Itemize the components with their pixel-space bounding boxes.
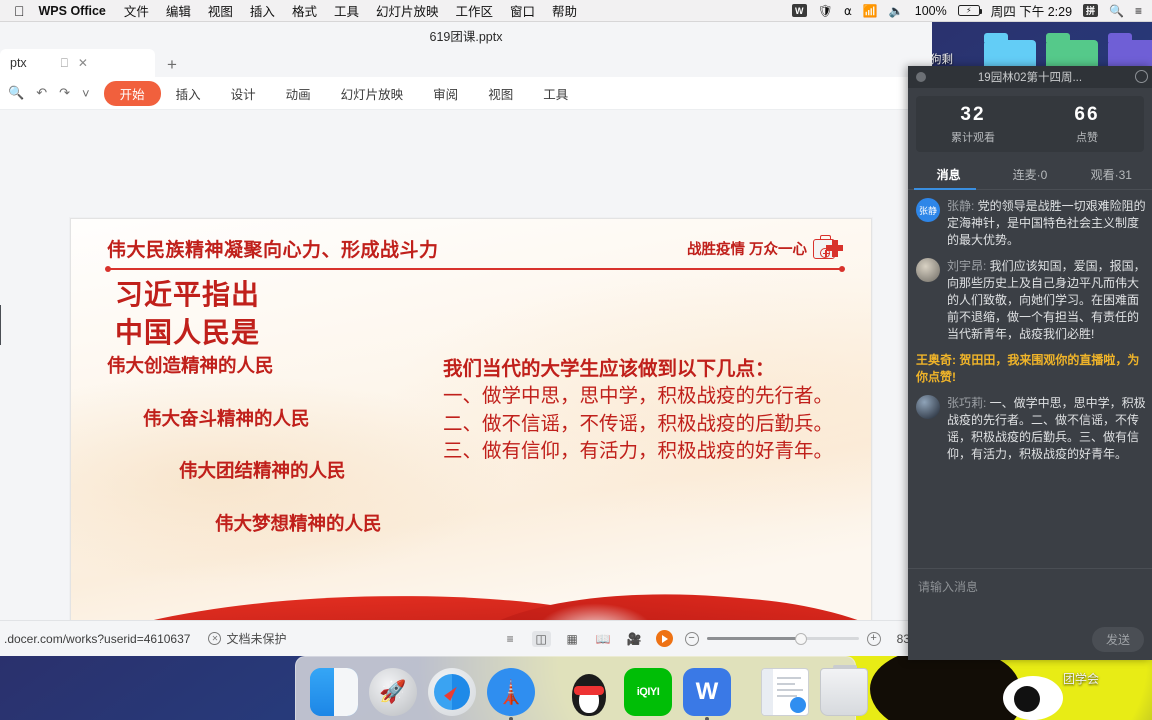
ribbon-tab-view[interactable]: 视图 bbox=[473, 84, 528, 103]
new-tab-button[interactable]: + bbox=[155, 55, 189, 77]
tab-mic[interactable]: 连麦·0 bbox=[989, 166, 1070, 183]
ribbon-tab-start[interactable]: 开始 bbox=[104, 81, 161, 106]
document-tab[interactable]: ptx ⎕ ✕ bbox=[0, 49, 155, 77]
wallpaper-label: 团学会 bbox=[1063, 670, 1099, 687]
avatar[interactable] bbox=[916, 258, 940, 282]
slide-right-point-1: 一、做学中思，思中学，积极战疫的先行者。 bbox=[443, 383, 853, 411]
status-tools: ≡ ◫ ▦ 📖 🎥 − + 83 % bbox=[501, 630, 932, 647]
stat-likes-value: 66 bbox=[1030, 104, 1144, 126]
outline-view-icon[interactable]: ≡ bbox=[501, 631, 520, 647]
document-tab-label: ptx bbox=[10, 56, 27, 70]
avatar[interactable]: 张静 bbox=[916, 198, 940, 222]
ribbon-tab-design[interactable]: 设计 bbox=[216, 84, 271, 103]
control-center-icon[interactable]: ≡ bbox=[1135, 5, 1142, 17]
dock-item-document[interactable] bbox=[761, 668, 809, 716]
wps-status-bar: .docer.com/works?userid=4610637 ✕ 文档未保护 … bbox=[0, 620, 932, 656]
slide-stage: 伟大民族精神凝聚向心力、形成战斗力 战胜疫情 万众一心 习近平指出 中国人民是 … bbox=[0, 110, 932, 620]
live-tabs: 消息 连麦·0 观看·31 bbox=[908, 160, 1152, 190]
wps-title-bar: 619团课.pptx bbox=[0, 22, 932, 49]
window-title: 619团课.pptx bbox=[430, 26, 503, 45]
menubar-app-name[interactable]: WPS Office bbox=[39, 4, 106, 18]
live-panel-title-bar: 19园林02第十四周... bbox=[908, 66, 1152, 88]
protection-label: 文档未保护 bbox=[226, 630, 286, 647]
dock-item-finder[interactable] bbox=[310, 668, 358, 716]
slide-canvas[interactable]: 伟大民族精神凝聚向心力、形成战斗力 战胜疫情 万众一心 习近平指出 中国人民是 … bbox=[70, 218, 872, 656]
chevron-left-icon[interactable]: ‹ bbox=[0, 305, 1, 345]
protection-status[interactable]: ✕ 文档未保护 bbox=[208, 630, 286, 647]
list-item: 伟大创造精神的人民 bbox=[107, 357, 446, 376]
dock-item-safari[interactable] bbox=[428, 668, 476, 716]
shield-icon[interactable]: 🛡 bbox=[818, 5, 833, 17]
normal-view-icon[interactable]: ◫ bbox=[532, 631, 551, 647]
message-body: 张巧莉: 一、做学中思，思中学，积极战疫的先行者。二、做不信谣，不传谣，积极战疫… bbox=[947, 395, 1146, 463]
menu-workspace[interactable]: 工作区 bbox=[455, 1, 493, 20]
menu-file[interactable]: 文件 bbox=[124, 1, 149, 20]
close-icon[interactable]: ✕ bbox=[78, 56, 88, 71]
search-icon[interactable]: 🔍 bbox=[1109, 5, 1124, 17]
menu-tools[interactable]: 工具 bbox=[334, 1, 359, 20]
wallpaper-shape-eye bbox=[1014, 686, 1040, 712]
zoom-knob[interactable] bbox=[795, 633, 807, 645]
slide-quote: 习近平指出 中国人民是 bbox=[115, 276, 260, 351]
message-input-placeholder: 请输入消息 bbox=[918, 580, 978, 594]
slide-quote-line-2: 中国人民是 bbox=[115, 314, 260, 352]
ribbon-tab-slideshow[interactable]: 幻灯片放映 bbox=[326, 84, 419, 103]
find-icon[interactable]: 🔍 bbox=[8, 85, 24, 101]
tab-viewers[interactable]: 观看·31 bbox=[1071, 166, 1152, 183]
minimize-icon[interactable] bbox=[916, 72, 926, 82]
minus-icon[interactable]: − bbox=[685, 632, 699, 646]
avatar[interactable] bbox=[916, 395, 940, 419]
live-stream-panel: 19园林02第十四周... 32 累计观看 66 点赞 消息 连麦·0 观看·3… bbox=[908, 66, 1152, 660]
stat-views: 32 累计观看 bbox=[916, 104, 1030, 145]
ribbon-tab-review[interactable]: 审阅 bbox=[418, 84, 473, 103]
input-method-icon[interactable]: 拼 bbox=[1083, 4, 1098, 17]
message-input-area[interactable]: 请输入消息 发送 bbox=[908, 568, 1152, 660]
slide-right-point-3: 三、做有信仰，有活力，积极战疫的好青年。 bbox=[443, 438, 853, 466]
ribbon-tab-tools[interactable]: 工具 bbox=[528, 84, 583, 103]
dock-item-iqiyi[interactable]: iQIYI bbox=[624, 668, 672, 716]
message-body: 张静: 党的领导是战胜一切艰难险阻的定海神针，是中国特色社会主义制度的最大优势。 bbox=[947, 198, 1146, 249]
dock-item-launchpad[interactable]: 🚀 bbox=[369, 668, 417, 716]
list-item: 张巧莉: 一、做学中思，思中学，积极战疫的先行者。二、做不信谣，不传谣，积极战疫… bbox=[916, 395, 1146, 463]
dock-item-dingtalk[interactable]: 🗼 bbox=[487, 668, 535, 716]
slide-header-subtitle: 战胜疫情 万众一心 bbox=[687, 238, 807, 259]
undo-icon[interactable]: ↶ bbox=[36, 85, 47, 101]
iqiyi-label: iQIYI bbox=[637, 686, 660, 698]
document-url[interactable]: .docer.com/works?userid=4610637 bbox=[0, 632, 190, 646]
message-author: 王奥奇: bbox=[916, 353, 956, 367]
play-icon[interactable] bbox=[656, 630, 673, 647]
slide-header-rule bbox=[107, 268, 843, 270]
chevron-down-icon[interactable]: ˅ bbox=[82, 86, 90, 101]
menubar-datetime[interactable]: 周四 下午 2:29 bbox=[991, 1, 1072, 20]
send-button[interactable]: 发送 bbox=[1092, 627, 1144, 652]
stat-views-label: 累计观看 bbox=[916, 129, 1030, 145]
wps-label: W bbox=[696, 678, 719, 706]
slide-right-heading: 我们当代的大学生应该做到以下几点： bbox=[443, 352, 853, 381]
ribbon-tab-animation[interactable]: 动画 bbox=[271, 84, 326, 103]
stat-views-value: 32 bbox=[916, 104, 1030, 126]
bluetooth-icon[interactable]: ⍺ bbox=[844, 5, 852, 17]
first-aid-kit-icon bbox=[813, 236, 843, 262]
wps-ribbon: 🔍 ↶ ↷ ˅ 开始 插入 设计 动画 幻灯片放映 审阅 视图 工具 ☝ bbox=[0, 77, 932, 110]
menu-window[interactable]: 窗口 bbox=[510, 1, 535, 20]
battery-percent-label: 100% bbox=[915, 4, 947, 18]
mac-dock: 🚀 🗼 iQIYI W bbox=[295, 656, 856, 720]
no-protect-icon: ✕ bbox=[208, 632, 221, 645]
message-author: 刘宇昂: bbox=[947, 259, 986, 273]
close-icon[interactable] bbox=[1135, 70, 1148, 83]
live-window-title: 19园林02第十四周... bbox=[978, 69, 1082, 85]
menubar-status-area: W 🛡 ⍺ 📶 🔈 100% ⚡ 周四 下午 2:29 拼 🔍 ≡ bbox=[792, 1, 1152, 20]
wps-office-window: 619团课.pptx ptx ⎕ ✕ + 🔍 ↶ ↷ ˅ 开始 插入 设计 动画… bbox=[0, 22, 932, 656]
menu-edit[interactable]: 编辑 bbox=[166, 1, 191, 20]
mac-menu-bar:  WPS Office 文件 编辑 视图 插入 格式 工具 幻灯片放映 工作区… bbox=[0, 0, 1152, 22]
battery-charging-icon[interactable]: ⚡ bbox=[958, 5, 980, 16]
menu-view[interactable]: 视图 bbox=[208, 1, 233, 20]
present-icon[interactable]: ⎕ bbox=[61, 56, 68, 71]
wps-status-icon[interactable]: W bbox=[792, 4, 807, 17]
menu-format[interactable]: 格式 bbox=[292, 1, 317, 20]
dock-item-trash[interactable] bbox=[820, 668, 868, 716]
message-author: 张静: bbox=[947, 199, 974, 213]
list-item: 王奥奇: 贺田田，我来围观你的直播啦，为你点赞! bbox=[916, 352, 1146, 386]
message-author: 张巧莉: bbox=[947, 396, 986, 410]
ribbon-tab-insert[interactable]: 插入 bbox=[161, 84, 216, 103]
message-text: 党的领导是战胜一切艰难险阻的定海神针，是中国特色社会主义制度的最大优势。 bbox=[947, 199, 1146, 247]
wifi-icon[interactable]: 📶 bbox=[863, 5, 878, 17]
menu-insert[interactable]: 插入 bbox=[250, 1, 275, 20]
list-item: 张静 张静: 党的领导是战胜一切艰难险阻的定海神针，是中国特色社会主义制度的最大… bbox=[916, 198, 1146, 249]
list-item: 刘宇昂: 我们应该知国，爱国，报国，向那些历史上及自己身边平凡而伟大的人们致敬，… bbox=[916, 258, 1146, 343]
record-icon[interactable]: 🎥 bbox=[625, 631, 644, 647]
slide-quote-line-1: 习近平指出 bbox=[115, 276, 260, 314]
menu-help[interactable]: 帮助 bbox=[552, 1, 577, 20]
list-item: 伟大团结精神的人民 bbox=[179, 462, 446, 481]
tab-underline bbox=[914, 188, 976, 190]
zoom-slider[interactable]: − + bbox=[685, 632, 881, 646]
live-message-list[interactable]: 张静 张静: 党的领导是战胜一切艰难险阻的定海神针，是中国特色社会主义制度的最大… bbox=[908, 190, 1152, 568]
desktop-icon-label: 狗剩 bbox=[930, 51, 953, 67]
slide-right-block: 我们当代的大学生应该做到以下几点： 一、做学中思，思中学，积极战疫的先行者。 二… bbox=[443, 352, 853, 466]
redo-icon[interactable]: ↷ bbox=[59, 85, 70, 101]
slide-header: 伟大民族精神凝聚向心力、形成战斗力 战胜疫情 万众一心 bbox=[107, 235, 843, 270]
zoom-track[interactable] bbox=[707, 637, 859, 640]
slide-left-list: 伟大创造精神的人民 伟大奋斗精神的人民 伟大团结精神的人民 伟大梦想精神的人民 bbox=[101, 357, 446, 567]
dock-item-qq[interactable] bbox=[565, 668, 613, 716]
wps-document-tab-bar: ptx ⎕ ✕ + bbox=[0, 49, 932, 77]
live-stats: 32 累计观看 66 点赞 bbox=[916, 96, 1144, 152]
reading-view-icon[interactable]: 📖 bbox=[594, 631, 613, 647]
volume-icon[interactable]: 🔈 bbox=[889, 5, 904, 17]
menu-slideshow[interactable]: 幻灯片放映 bbox=[376, 1, 439, 20]
slide-sorter-icon[interactable]: ▦ bbox=[563, 631, 582, 647]
list-item: 伟大奋斗精神的人民 bbox=[143, 410, 446, 429]
quick-access-toolbar: 🔍 ↶ ↷ ˅ bbox=[8, 85, 104, 101]
message-body: 刘宇昂: 我们应该知国，爱国，报国，向那些历史上及自己身边平凡而伟大的人们致敬，… bbox=[947, 258, 1146, 343]
apple-icon[interactable]:  bbox=[14, 4, 25, 18]
list-item: 伟大梦想精神的人民 bbox=[215, 515, 446, 534]
message-body: 王奥奇: 贺田田，我来围观你的直播啦，为你点赞! bbox=[916, 352, 1146, 386]
stat-likes: 66 点赞 bbox=[1030, 104, 1144, 145]
slide-right-point-2: 二、做不信谣，不传谣，积极战疫的后勤兵。 bbox=[443, 411, 853, 439]
slide-header-title: 伟大民族精神凝聚向心力、形成战斗力 bbox=[107, 235, 439, 262]
tab-messages[interactable]: 消息 bbox=[908, 166, 989, 183]
plus-icon[interactable]: + bbox=[867, 632, 881, 646]
stat-likes-label: 点赞 bbox=[1030, 129, 1144, 145]
dock-item-wps[interactable]: W bbox=[683, 668, 731, 716]
